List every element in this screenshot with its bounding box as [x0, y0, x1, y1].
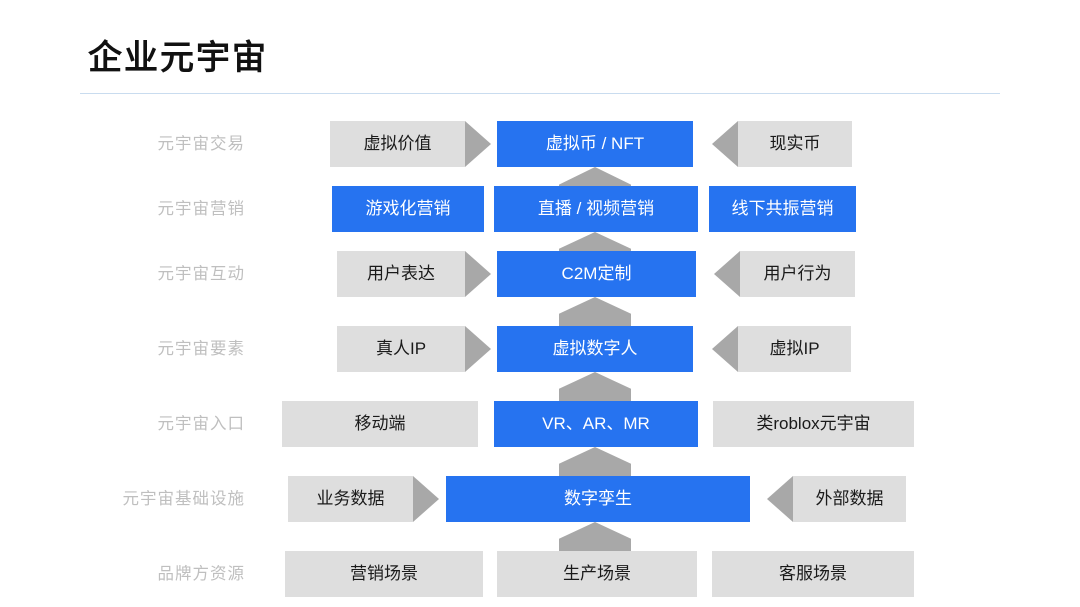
arrow-right-icon	[413, 476, 439, 522]
page-title: 企业元宇宙	[88, 36, 268, 80]
cell-center-row-3[interactable]: C2M定制	[497, 251, 696, 297]
cell-center-row-7-label: 生产场景	[497, 551, 697, 597]
cell-center-row-5[interactable]: VR、AR、MR	[494, 401, 698, 447]
arrow-right-icon	[465, 251, 491, 297]
cell-left-row-2-label: 游戏化营销	[332, 186, 484, 232]
diagram-row: 元宇宙基础设施 业务数据 数字孪生 外部数据	[0, 476, 1080, 522]
cell-left-row-1[interactable]: 虚拟价值	[330, 121, 465, 167]
diagram-row: 元宇宙互动 用户表达 C2M定制 用户行为	[0, 251, 1080, 297]
cell-center-row-7[interactable]: 生产场景	[497, 551, 697, 597]
cell-center-row-1[interactable]: 虚拟币 / NFT	[497, 121, 693, 167]
cell-center-row-4[interactable]: 虚拟数字人	[497, 326, 693, 372]
row-label-interaction: 元宇宙互动	[40, 251, 245, 297]
title-divider	[80, 93, 1000, 94]
cell-left-row-4-label: 真人IP	[337, 326, 465, 372]
cell-right-row-1[interactable]: 现实币	[738, 121, 852, 167]
diagram-row: 品牌方资源 营销场景 生产场景 客服场景	[0, 551, 1080, 597]
row-label-brand-resources: 品牌方资源	[40, 551, 245, 597]
row-label-marketing: 元宇宙营销	[40, 186, 245, 232]
diagram-row: 元宇宙营销 游戏化营销 直播 / 视频营销 线下共振营销	[0, 186, 1080, 232]
cell-center-row-5-label: VR、AR、MR	[494, 401, 698, 447]
cell-left-row-2[interactable]: 游戏化营销	[332, 186, 484, 232]
row-label-elements: 元宇宙要素	[40, 326, 245, 372]
cell-left-row-7[interactable]: 营销场景	[285, 551, 483, 597]
cell-center-row-6-label: 数字孪生	[446, 476, 750, 522]
cell-center-row-2[interactable]: 直播 / 视频营销	[494, 186, 698, 232]
cell-right-row-6-label: 外部数据	[793, 476, 906, 522]
cell-right-row-3-label: 用户行为	[740, 251, 855, 297]
arrow-right-icon	[465, 326, 491, 372]
row-label-infrastructure: 元宇宙基础设施	[40, 476, 245, 522]
cell-right-row-7-label: 客服场景	[712, 551, 914, 597]
cell-left-row-5-label: 移动端	[282, 401, 478, 447]
arrow-right-icon	[465, 121, 491, 167]
arrow-left-icon	[767, 476, 793, 522]
diagram-row: 元宇宙要素 真人IP 虚拟数字人 虚拟IP	[0, 326, 1080, 372]
cell-right-row-7[interactable]: 客服场景	[712, 551, 914, 597]
cell-right-row-2[interactable]: 线下共振营销	[709, 186, 856, 232]
cell-left-row-3[interactable]: 用户表达	[337, 251, 465, 297]
diagram-row: 元宇宙入口 移动端 VR、AR、MR 类roblox元宇宙	[0, 401, 1080, 447]
cell-left-row-1-label: 虚拟价值	[330, 121, 465, 167]
cell-left-row-7-label: 营销场景	[285, 551, 483, 597]
arrow-left-icon	[712, 121, 738, 167]
diagram-row: 元宇宙交易 虚拟价值 虚拟币 / NFT 现实币	[0, 121, 1080, 167]
arrow-left-icon	[714, 251, 740, 297]
cell-center-row-1-label: 虚拟币 / NFT	[497, 121, 693, 167]
cell-right-row-6[interactable]: 外部数据	[793, 476, 906, 522]
cell-right-row-1-label: 现实币	[738, 121, 852, 167]
cell-center-row-2-label: 直播 / 视频营销	[494, 186, 698, 232]
cell-left-row-4[interactable]: 真人IP	[337, 326, 465, 372]
cell-right-row-4-label: 虚拟IP	[738, 326, 851, 372]
cell-left-row-5[interactable]: 移动端	[282, 401, 478, 447]
cell-center-row-6[interactable]: 数字孪生	[446, 476, 750, 522]
row-label-entrance: 元宇宙入口	[40, 401, 245, 447]
metaverse-layer-diagram: 元宇宙交易 虚拟价值 虚拟币 / NFT 现实币 元宇宙营销 游戏化营销 直播 …	[0, 103, 1080, 607]
cell-right-row-5-label: 类roblox元宇宙	[713, 401, 914, 447]
cell-center-row-4-label: 虚拟数字人	[497, 326, 693, 372]
row-label-transaction: 元宇宙交易	[40, 121, 245, 167]
cell-left-row-3-label: 用户表达	[337, 251, 465, 297]
arrow-left-icon	[712, 326, 738, 372]
cell-right-row-2-label: 线下共振营销	[709, 186, 856, 232]
cell-center-row-3-label: C2M定制	[497, 251, 696, 297]
cell-left-row-6-label: 业务数据	[288, 476, 413, 522]
cell-right-row-4[interactable]: 虚拟IP	[738, 326, 851, 372]
cell-right-row-5[interactable]: 类roblox元宇宙	[713, 401, 914, 447]
cell-left-row-6[interactable]: 业务数据	[288, 476, 413, 522]
cell-right-row-3[interactable]: 用户行为	[740, 251, 855, 297]
